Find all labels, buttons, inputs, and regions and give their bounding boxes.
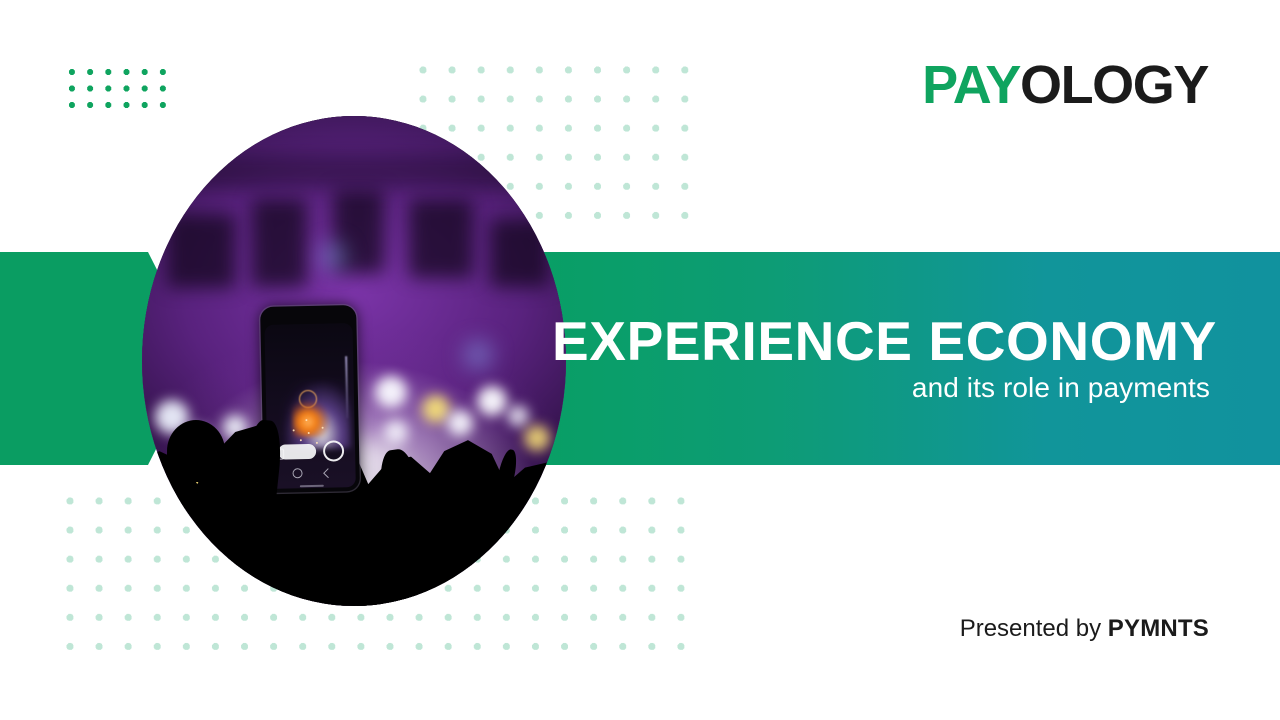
pymnts-brand: PYMNTS — [1108, 615, 1209, 642]
photo-architecture-block — [252, 199, 307, 287]
photo-bokeh-light — [384, 420, 408, 444]
presented-by-credit: Presented by PYMNTS — [960, 615, 1209, 644]
photo-architecture-block — [490, 219, 549, 288]
phone-back-icon — [323, 468, 333, 478]
photo-architecture-block — [167, 214, 235, 288]
presented-by-label: Presented by — [960, 615, 1101, 642]
photo-bokeh-light — [375, 376, 407, 408]
slide-canvas: EXPERIENCE ECONOMY and its role in payme… — [0, 0, 1280, 720]
photo-scene — [142, 116, 566, 606]
logo-text-pay: PAY — [922, 55, 1020, 115]
photo-bokeh-light — [507, 405, 529, 427]
photo-forearm-left — [223, 537, 293, 606]
photo-crowd-head — [167, 420, 225, 482]
photo-bokeh-light — [422, 395, 450, 423]
phone-mode-pill — [278, 444, 316, 460]
phone-shutter-icon — [323, 440, 344, 461]
phone-stage-flame — [292, 401, 330, 438]
phone-home-icon — [292, 468, 302, 478]
photo-bokeh-light — [524, 425, 550, 451]
photo-bokeh-light — [477, 386, 507, 416]
dot-grid-accent-top-left — [68, 68, 166, 112]
phone-spark — [305, 419, 307, 421]
photo-architecture-block — [150, 155, 557, 189]
page-title: EXPERIENCE ECONOMY — [552, 312, 1212, 370]
payology-logo: PAYOLOGY — [922, 58, 1208, 112]
hero-photo-circle — [142, 116, 566, 606]
page-subtitle: and its role in payments — [552, 371, 1210, 405]
photo-architecture-block — [409, 199, 473, 277]
logo-text-ology: OLOGY — [1020, 55, 1208, 115]
